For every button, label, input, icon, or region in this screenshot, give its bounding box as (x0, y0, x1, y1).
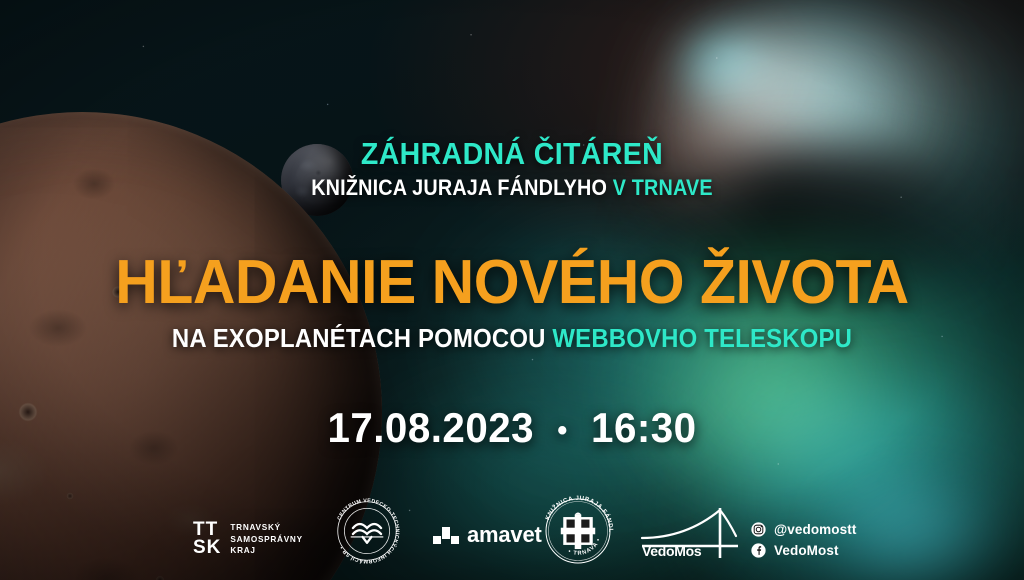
page-title: HĽADANIE NOVÉHO ŽIVOTA (26, 252, 999, 314)
logo-cvti-sr: CENTRUM VEDECKO-TECHNICKÝCH INFORMÁCIÍ S… (330, 494, 404, 568)
ttsk-monogram-line2: SK (193, 539, 221, 558)
datetime-separator: • (557, 414, 568, 448)
headline-block: HĽADANIE NOVÉHO ŽIVOTA NA EXOPLANÉTACH P… (0, 252, 1024, 354)
eyebrow-block: ZÁHRADNÁ ČITÁREŇ KNIŽNICA JURAJA FÁNDLYH… (0, 138, 1024, 201)
facebook-icon (751, 543, 766, 558)
vedomost-wordmark: VedoMos (642, 543, 702, 559)
logo-kniznica-juraja-fandlyho: KNIŽNICA JURAJA FÁNDLYHO • TRNAVA • (537, 490, 619, 572)
instagram-icon (751, 522, 766, 537)
poster-content: ZÁHRADNÁ ČITÁREŇ KNIŽNICA JURAJA FÁNDLYH… (0, 0, 1024, 580)
headline-subtitle-main: NA EXOPLANÉTACH POMOCOU (172, 323, 546, 353)
headline-subtitle-accent: WEBBOVHO TELESKOPU (552, 323, 852, 353)
event-time: 16:30 (591, 404, 697, 451)
social-link-facebook[interactable]: VedoMost (751, 543, 856, 558)
social-link-instagram[interactable]: @vedomostt (751, 522, 856, 537)
instagram-handle: @vedomostt (774, 522, 856, 537)
event-series-title: ZÁHRADNÁ ČITÁREŇ (41, 138, 983, 171)
facebook-handle: VedoMost (774, 543, 839, 558)
event-datetime: 17.08.2023 • 16:30 (20, 404, 1003, 452)
organizer-line: KNIŽNICA JURAJA FÁNDLYHO V TRNAVE (51, 175, 973, 201)
ttsk-monogram: TT SK (193, 521, 221, 558)
ttsk-wordmark-line1: TRNAVSKÝ (230, 522, 302, 534)
social-links: @vedomostt VedoMost (751, 522, 856, 558)
event-poster: ZÁHRADNÁ ČITÁREŇ KNIŽNICA JURAJA FÁNDLYH… (0, 0, 1024, 580)
logo-ttsk: TT SK TRNAVSKÝ SAMOSPRÁVNY KRAJ (193, 521, 303, 558)
svg-text:CENTRUM VEDECKO-TECHNICKÝCH IN: CENTRUM VEDECKO-TECHNICKÝCH INFORMÁCIÍ S… (336, 498, 399, 565)
logo-amavet: amavet (433, 522, 542, 548)
ttsk-wordmark: TRNAVSKÝ SAMOSPRÁVNY KRAJ (230, 522, 302, 557)
ttsk-wordmark-line3: KRAJ (230, 545, 302, 557)
logo-vedomost: VedoMos (640, 506, 740, 560)
ttsk-wordmark-line2: SAMOSPRÁVNY (230, 534, 302, 546)
event-date: 17.08.2023 (327, 404, 534, 451)
organizer-name: KNIŽNICA JURAJA FÁNDLYHO (311, 175, 607, 200)
organizer-city: V TRNAVE (613, 175, 713, 200)
amavet-icon (433, 527, 459, 544)
amavet-wordmark: amavet (467, 522, 542, 548)
sponsor-footer: TT SK TRNAVSKÝ SAMOSPRÁVNY KRAJ (0, 484, 1024, 580)
headline-subtitle: NA EXOPLANÉTACH POMOCOU WEBBOVHO TELESKO… (41, 323, 983, 354)
